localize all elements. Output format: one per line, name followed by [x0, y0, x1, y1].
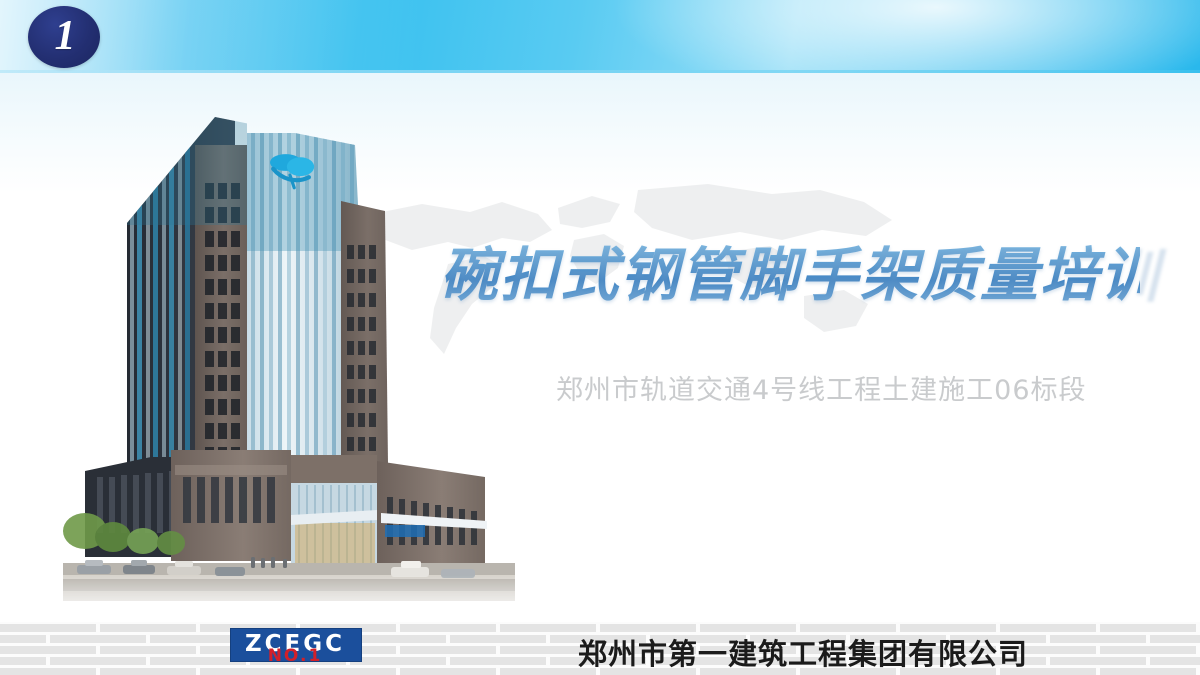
logo-tagline: NO.1	[230, 648, 360, 665]
slide-number-badge: 1	[28, 6, 100, 68]
slide-number-label: 1	[29, 5, 101, 67]
presentation-slide: 1	[0, 0, 1200, 675]
slide-title: 碗扣式钢管脚手架质量培训	[440, 228, 1140, 312]
company-logo: ZCEGC NO.1	[230, 628, 360, 670]
company-name-label: 郑州市第一建筑工程集团有限公司	[578, 631, 1028, 673]
top-banner	[0, 0, 1200, 73]
building-rendering	[55, 105, 525, 617]
slide-subtitle: 郑州市轨道交通4号线工程土建施工06标段	[556, 368, 1156, 407]
